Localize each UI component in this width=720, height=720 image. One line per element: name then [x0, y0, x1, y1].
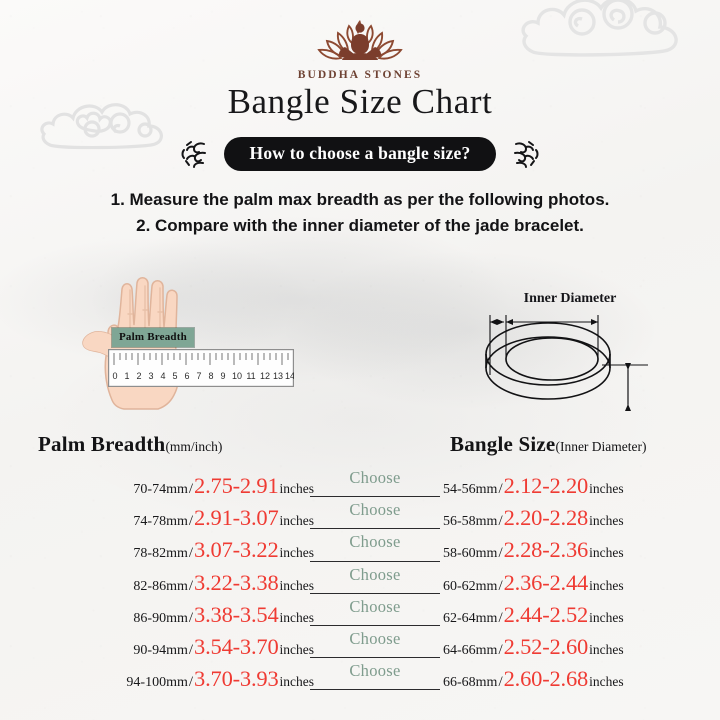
- connector-line: [310, 593, 440, 594]
- subtitle-row: How to choose a bangle size?: [0, 137, 720, 171]
- palm-breadth-cell: 78-82mm/3.07-3.22inches: [133, 537, 314, 563]
- size-chart-page: BUDDHA STONES Bangle Size Chart How to c…: [0, 0, 720, 720]
- choose-label: Choose: [310, 629, 440, 649]
- table-row: 94-100mm/3.70-3.93inchesChoose66-68mm/2.…: [0, 663, 720, 695]
- palm-inch-value: 2.91-3.07: [194, 505, 278, 531]
- palm-breadth-header-sub: (mm/inch): [165, 439, 222, 454]
- palm-breadth-header-main: Palm Breadth: [38, 432, 165, 456]
- palm-inch-value: 2.75-2.91: [194, 473, 278, 499]
- palm-mm-value: 82-86mm: [133, 579, 187, 595]
- connector-line: [310, 689, 440, 690]
- bangle-inch-unit: inches: [588, 545, 624, 561]
- brand-name: BUDDHA STONES: [0, 69, 720, 81]
- svg-text:5: 5: [172, 371, 177, 381]
- bangle-size-cell: 62-64mm/2.44-2.52inches: [443, 602, 624, 628]
- svg-text:6: 6: [184, 371, 189, 381]
- svg-text:9: 9: [220, 371, 225, 381]
- svg-text:7: 7: [196, 371, 201, 381]
- palm-inch-value: 3.38-3.54: [194, 602, 278, 628]
- choose-connector[interactable]: Choose: [310, 502, 440, 534]
- bangle-mm-value: 56-58mm: [443, 514, 497, 530]
- palm-inch-unit: inches: [279, 545, 315, 561]
- svg-text:3: 3: [148, 371, 153, 381]
- palm-mm-value: 70-74mm: [133, 482, 187, 498]
- bangle-size-header-sub: (Inner Diameter): [555, 439, 646, 454]
- instruction-steps: 1. Measure the palm max breadth as per t…: [0, 187, 720, 240]
- bangle-mm-value: 54-56mm: [443, 482, 497, 498]
- bangle-inch-unit: inches: [588, 513, 624, 529]
- choose-connector[interactable]: Choose: [310, 599, 440, 631]
- palm-mm-value: 90-94mm: [133, 643, 187, 659]
- palm-breadth-cell: 94-100mm/3.70-3.93inches: [126, 666, 314, 692]
- bangle-inch-value: 2.28-2.36: [504, 537, 588, 563]
- palm-breadth-cell: 74-78mm/2.91-3.07inches: [133, 505, 314, 531]
- page-title: Bangle Size Chart: [0, 82, 720, 122]
- choose-connector[interactable]: Choose: [310, 631, 440, 663]
- svg-text:8: 8: [208, 371, 213, 381]
- connector-line: [310, 625, 440, 626]
- palm-breadth-cell: 82-86mm/3.22-3.38inches: [133, 570, 314, 596]
- bangle-inch-value: 2.60-2.68: [504, 666, 588, 692]
- palm-inch-value: 3.22-3.38: [194, 570, 278, 596]
- table-row: 74-78mm/2.91-3.07inchesChoose56-58mm/2.2…: [0, 502, 720, 534]
- svg-text:12: 12: [260, 371, 270, 381]
- connector-line: [310, 496, 440, 497]
- bangle-inch-unit: inches: [588, 610, 624, 626]
- svg-text:14: 14: [285, 371, 294, 381]
- hand-measure-figure: Palm Breadth 012 345 678 91011 121314: [72, 252, 307, 417]
- choose-connector[interactable]: Choose: [310, 567, 440, 599]
- palm-breadth-label: Palm Breadth: [112, 328, 194, 347]
- choose-label: Choose: [310, 500, 440, 520]
- palm-breadth-cell: 70-74mm/2.75-2.91inches: [133, 473, 314, 499]
- bangle-ring-icon: [452, 292, 657, 420]
- lotus-meditation-icon: [300, 10, 420, 68]
- palm-inch-value: 3.70-3.93: [194, 666, 278, 692]
- choose-label: Choose: [310, 661, 440, 681]
- choose-label: Choose: [310, 468, 440, 488]
- palm-inch-unit: inches: [279, 642, 315, 658]
- subtitle-pill: How to choose a bangle size?: [224, 137, 497, 171]
- size-table: 70-74mm/2.75-2.91inchesChoose54-56mm/2.1…: [0, 470, 720, 695]
- bangle-inch-value: 2.12-2.20: [504, 473, 588, 499]
- flourish-ornament-icon: [179, 137, 213, 171]
- bangle-size-cell: 54-56mm/2.12-2.20inches: [443, 473, 624, 499]
- palm-inch-unit: inches: [279, 610, 315, 626]
- svg-text:13: 13: [273, 371, 283, 381]
- bangle-inch-unit: inches: [588, 642, 624, 658]
- bangle-mm-value: 58-60mm: [443, 546, 497, 562]
- bangle-mm-value: 66-68mm: [443, 675, 497, 691]
- bangle-size-cell: 66-68mm/2.60-2.68inches: [443, 666, 624, 692]
- palm-inch-unit: inches: [279, 674, 315, 690]
- bangle-size-cell: 64-66mm/2.52-2.60inches: [443, 634, 624, 660]
- bangle-inch-unit: inches: [588, 481, 624, 497]
- bangle-size-header: Bangle Size(Inner Diameter): [450, 432, 647, 457]
- choose-connector[interactable]: Choose: [310, 470, 440, 502]
- instruction-step-1: 1. Measure the palm max breadth as per t…: [0, 187, 720, 213]
- palm-breadth-header: Palm Breadth(mm/inch): [38, 432, 222, 457]
- palm-inch-unit: inches: [279, 513, 315, 529]
- bangle-inch-value: 2.36-2.44: [504, 570, 588, 596]
- table-row: 78-82mm/3.07-3.22inchesChoose58-60mm/2.2…: [0, 534, 720, 566]
- palm-inch-value: 3.54-3.70: [194, 634, 278, 660]
- palm-inch-unit: inches: [279, 481, 315, 497]
- palm-inch-unit: inches: [279, 578, 315, 594]
- svg-text:4: 4: [160, 371, 165, 381]
- bangle-inch-value: 2.44-2.52: [504, 602, 588, 628]
- palm-breadth-cell: 90-94mm/3.54-3.70inches: [133, 634, 314, 660]
- svg-text:2: 2: [136, 371, 141, 381]
- connector-line: [310, 528, 440, 529]
- palm-inch-value: 3.07-3.22: [194, 537, 278, 563]
- ruler-icon: 012 345 678 91011 121314: [108, 349, 294, 387]
- bangle-mm-value: 60-62mm: [443, 579, 497, 595]
- bangle-inch-unit: inches: [588, 578, 624, 594]
- choose-connector[interactable]: Choose: [310, 663, 440, 695]
- palm-mm-value: 78-82mm: [133, 546, 187, 562]
- bangle-inch-value: 2.52-2.60: [504, 634, 588, 660]
- bangle-size-cell: 60-62mm/2.36-2.44inches: [443, 570, 624, 596]
- connector-line: [310, 561, 440, 562]
- table-row: 86-90mm/3.38-3.54inchesChoose62-64mm/2.4…: [0, 599, 720, 631]
- bangle-diagram-figure: Inner Diameter: [452, 292, 657, 420]
- bangle-mm-value: 62-64mm: [443, 611, 497, 627]
- svg-text:10: 10: [232, 371, 242, 381]
- table-row: 90-94mm/3.54-3.70inchesChoose64-66mm/2.5…: [0, 631, 720, 663]
- choose-connector[interactable]: Choose: [310, 534, 440, 566]
- inner-diameter-label: Inner Diameter: [490, 291, 650, 307]
- flourish-ornament-icon: [507, 137, 541, 171]
- choose-label: Choose: [310, 597, 440, 617]
- instruction-step-2: 2. Compare with the inner diameter of th…: [0, 213, 720, 239]
- svg-text:11: 11: [246, 371, 255, 381]
- svg-text:0: 0: [112, 371, 117, 381]
- bangle-size-cell: 56-58mm/2.20-2.28inches: [443, 505, 624, 531]
- palm-breadth-cell: 86-90mm/3.38-3.54inches: [133, 602, 314, 628]
- brand-logo: BUDDHA STONES: [0, 10, 720, 81]
- choose-label: Choose: [310, 565, 440, 585]
- palm-mm-value: 86-90mm: [133, 611, 187, 627]
- svg-text:1: 1: [124, 371, 129, 381]
- bangle-inch-unit: inches: [588, 674, 624, 690]
- bangle-mm-value: 64-66mm: [443, 643, 497, 659]
- palm-mm-value: 94-100mm: [126, 675, 187, 691]
- choose-label: Choose: [310, 532, 440, 552]
- connector-line: [310, 657, 440, 658]
- bangle-inch-value: 2.20-2.28: [504, 505, 588, 531]
- palm-mm-value: 74-78mm: [133, 514, 187, 530]
- bangle-size-header-main: Bangle Size: [450, 432, 555, 456]
- table-row: 82-86mm/3.22-3.38inchesChoose60-62mm/2.3…: [0, 567, 720, 599]
- table-row: 70-74mm/2.75-2.91inchesChoose54-56mm/2.1…: [0, 470, 720, 502]
- bangle-size-cell: 58-60mm/2.28-2.36inches: [443, 537, 624, 563]
